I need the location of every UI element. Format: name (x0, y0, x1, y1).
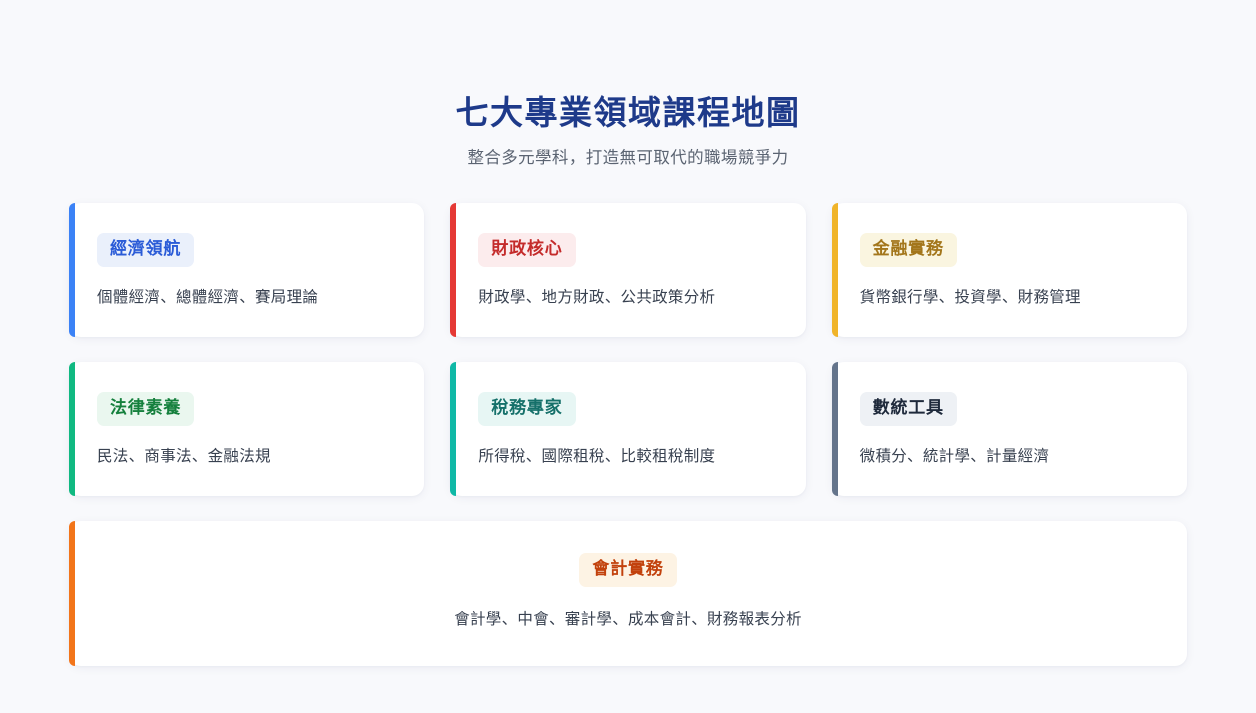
status-badge: 金融實務 (860, 233, 957, 267)
status-badge: 數統工具 (860, 392, 957, 426)
course-card-description: 會計學、中會、審計學、成本會計、財務報表分析 (97, 608, 1159, 631)
course-card-description: 貨幣銀行學、投資學、財務管理 (860, 286, 1159, 309)
status-badge: 法律素養 (97, 392, 194, 426)
course-card-description: 所得稅、國際租稅、比較租稅制度 (478, 445, 777, 468)
page-title: 七大專業領域課程地圖 (0, 92, 1256, 135)
status-badge: 財政核心 (478, 233, 575, 267)
course-card-description: 財政學、地方財政、公共政策分析 (478, 286, 777, 309)
course-card-math-statistics[interactable]: 數統工具 微積分、統計學、計量經濟 (832, 362, 1187, 496)
course-map-page: 七大專業領域課程地圖 整合多元學科，打造無可取代的職場競爭力 經濟領航 個體經濟… (0, 0, 1256, 713)
status-badge: 會計實務 (579, 553, 676, 587)
status-badge: 稅務專家 (478, 392, 575, 426)
course-card-description: 微積分、統計學、計量經濟 (860, 445, 1159, 468)
page-header: 七大專業領域課程地圖 整合多元學科，打造無可取代的職場競爭力 (0, 0, 1256, 170)
course-card-accounting[interactable]: 會計實務 會計學、中會、審計學、成本會計、財務報表分析 (69, 521, 1187, 665)
course-card-public-finance[interactable]: 財政核心 財政學、地方財政、公共政策分析 (450, 203, 805, 337)
page-subtitle: 整合多元學科，打造無可取代的職場競爭力 (0, 147, 1256, 170)
course-card-description: 個體經濟、總體經濟、賽局理論 (97, 286, 396, 309)
status-badge: 經濟領航 (97, 233, 194, 267)
course-card-taxation[interactable]: 稅務專家 所得稅、國際租稅、比較租稅制度 (450, 362, 805, 496)
course-card-grid: 經濟領航 個體經濟、總體經濟、賽局理論 財政核心 財政學、地方財政、公共政策分析… (69, 203, 1187, 666)
course-card-law[interactable]: 法律素養 民法、商事法、金融法規 (69, 362, 424, 496)
course-card-finance[interactable]: 金融實務 貨幣銀行學、投資學、財務管理 (832, 203, 1187, 337)
course-card-description: 民法、商事法、金融法規 (97, 445, 396, 468)
course-card-economics[interactable]: 經濟領航 個體經濟、總體經濟、賽局理論 (69, 203, 424, 337)
